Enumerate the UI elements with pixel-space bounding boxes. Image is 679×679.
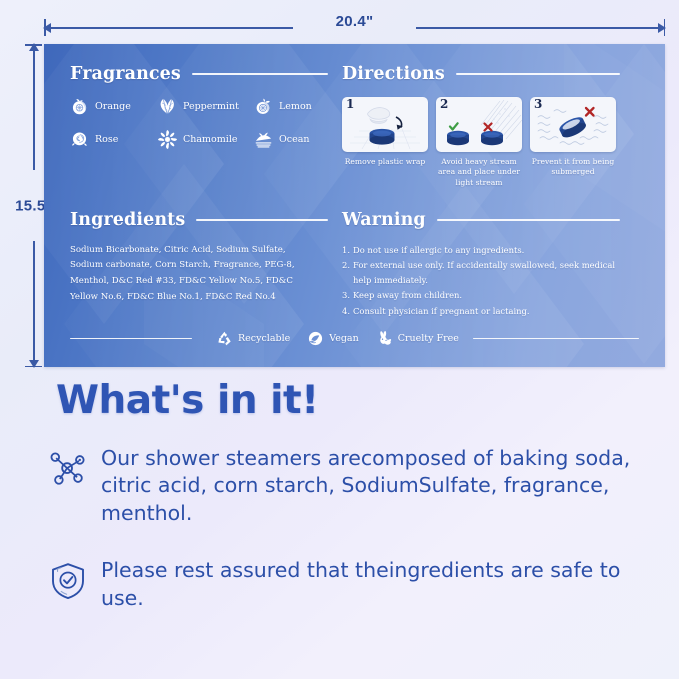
badge-recyclable: Recyclable: [216, 330, 290, 347]
height-tick-top: [25, 44, 42, 46]
rose-icon: [70, 130, 89, 149]
badge-group: Recyclable Vegan: [216, 330, 459, 347]
directions-heading-rule: [456, 73, 620, 75]
molecule-icon: [48, 449, 88, 489]
fragrances-grid: Orange Peppermint: [70, 97, 328, 149]
badge-vegan: Vegan: [307, 330, 358, 347]
ingredients-heading: Ingredients: [70, 210, 328, 230]
width-tick-right: [664, 19, 666, 36]
warning-item-number: 1.: [342, 243, 350, 257]
height-arrow-down-icon: [29, 360, 39, 368]
ingredients-heading-text: Ingredients: [70, 210, 185, 230]
warning-item: 1. Do not use if allergic to any ingredi…: [342, 243, 620, 257]
fragrance-label: Peppermint: [183, 101, 239, 112]
warning-heading-rule: [437, 219, 620, 221]
rabbit-icon: [376, 330, 393, 347]
step-2-number: 2: [440, 98, 448, 110]
fragrance-label: Lemon: [279, 101, 312, 112]
step-3-number: 3: [534, 98, 542, 110]
warning-item-text: For external use only. If accidentally s…: [353, 258, 620, 287]
badge-cruelty-free: Cruelty Free: [376, 330, 459, 347]
info-bullet-text: Our shower steamers arecomposed of bakin…: [101, 445, 661, 527]
recycle-icon: [216, 330, 233, 347]
info-bullet-safety: Please rest assured that theingredients …: [0, 557, 679, 612]
fragrance-label: Rose: [95, 134, 118, 145]
lemon-icon: [254, 97, 273, 116]
warning-item: 3. Keep away from children.: [342, 288, 620, 302]
info-bullet-ingredients: Our shower steamers arecomposed of bakin…: [0, 445, 679, 527]
fragrance-item-ocean: Ocean: [254, 130, 328, 149]
fragrance-label: Chamomile: [183, 134, 238, 145]
step-2-caption: Avoid heavy stream area and place under …: [436, 157, 522, 188]
peppermint-icon: [158, 97, 177, 116]
step-1-number: 1: [346, 98, 354, 110]
chamomile-icon: [158, 130, 177, 149]
width-label: 20.4": [44, 13, 665, 30]
width-dimension: 20.4": [44, 27, 665, 29]
ingredients-heading-rule: [196, 219, 328, 221]
fragrance-item-rose: Rose: [70, 130, 158, 149]
height-line-top: [33, 44, 35, 170]
remove-wrap-illustration-icon: [342, 97, 428, 152]
warning-item-text: Do not use if allergic to any ingredient…: [353, 243, 620, 257]
height-line-bottom: [33, 241, 35, 367]
step-3-illustration: 3: [530, 97, 616, 152]
banner-top-row: Fragrances Orange: [70, 64, 639, 188]
height-dimension: 15.5": [33, 44, 35, 367]
fragrances-heading: Fragrances: [70, 64, 328, 84]
info-bullet-text: Please rest assured that theingredients …: [101, 557, 661, 612]
product-info-banner: Fragrances Orange: [44, 44, 665, 367]
ocean-icon: [254, 130, 273, 149]
ingredients-section: Ingredients Sodium Bicarbonate, Citric A…: [70, 210, 328, 319]
orange-icon: [70, 97, 89, 116]
directions-heading-text: Directions: [342, 64, 445, 84]
warning-item-number: 3.: [342, 288, 350, 302]
step-2-illustration: 2: [436, 97, 522, 152]
warning-heading: Warning: [342, 210, 620, 230]
leaf-icon: [307, 330, 324, 347]
width-line-left: [44, 27, 293, 29]
banner-content: Fragrances Orange: [44, 44, 665, 367]
directions-steps: 1: [342, 97, 620, 188]
warning-item-number: 4.: [342, 304, 350, 318]
warning-item: 2. For external use only. If accidentall…: [342, 258, 620, 287]
fragrances-section: Fragrances Orange: [70, 64, 328, 188]
banner-bottom-row: Ingredients Sodium Bicarbonate, Citric A…: [70, 210, 639, 319]
step-3-caption: Prevent it from being submerged: [530, 157, 616, 178]
direction-step-3: 3: [530, 97, 616, 188]
fragrance-item-chamomile: Chamomile: [158, 130, 254, 149]
prevent-submerged-illustration-icon: [530, 97, 616, 152]
fragrance-item-peppermint: Peppermint: [158, 97, 254, 116]
badges-rule-left: [70, 338, 192, 339]
warning-heading-text: Warning: [342, 210, 426, 230]
warning-item: 4. Consult physician if pregnant or lact…: [342, 304, 620, 318]
warning-item-text: Consult physician if pregnant or lactain…: [353, 304, 620, 318]
width-line-right: [416, 27, 665, 29]
height-arrow-up-icon: [29, 43, 39, 51]
width-arrow-left-icon: [43, 23, 51, 33]
avoid-heavy-stream-illustration-icon: [436, 97, 522, 152]
fragrance-item-lemon: Lemon: [254, 97, 328, 116]
page-title: What's in it!: [0, 380, 679, 423]
fragrances-heading-text: Fragrances: [70, 64, 181, 84]
certification-badges: Recyclable Vegan: [70, 330, 639, 347]
warning-list: 1. Do not use if allergic to any ingredi…: [342, 243, 620, 318]
ingredients-list-text: Sodium Bicarbonate, Citric Acid, Sodium …: [70, 243, 310, 306]
whats-in-it-section: What's in it! Our shower steamers arecom…: [0, 380, 679, 612]
badge-label: Vegan: [329, 333, 358, 344]
fragrances-heading-rule: [192, 73, 328, 75]
fragrance-label: Orange: [95, 101, 131, 112]
warning-item-number: 2.: [342, 258, 350, 287]
directions-section: Directions 1: [342, 64, 620, 188]
badge-label: Recyclable: [238, 333, 290, 344]
warning-item-text: Keep away from children.: [353, 288, 620, 302]
directions-heading: Directions: [342, 64, 620, 84]
warning-section: Warning 1. Do not use if allergic to any…: [342, 210, 620, 319]
badge-label: Cruelty Free: [398, 333, 459, 344]
direction-step-1: 1: [342, 97, 428, 188]
height-tick-bottom: [25, 366, 42, 368]
step-1-caption: Remove plastic wrap: [342, 157, 428, 167]
width-arrow-right-icon: [658, 23, 666, 33]
direction-step-2: 2: [436, 97, 522, 188]
shield-check-icon: [48, 561, 88, 601]
fragrance-item-orange: Orange: [70, 97, 158, 116]
width-tick-left: [44, 19, 46, 36]
badges-rule-right: [473, 338, 639, 339]
step-1-illustration: 1: [342, 97, 428, 152]
fragrance-label: Ocean: [279, 134, 310, 145]
